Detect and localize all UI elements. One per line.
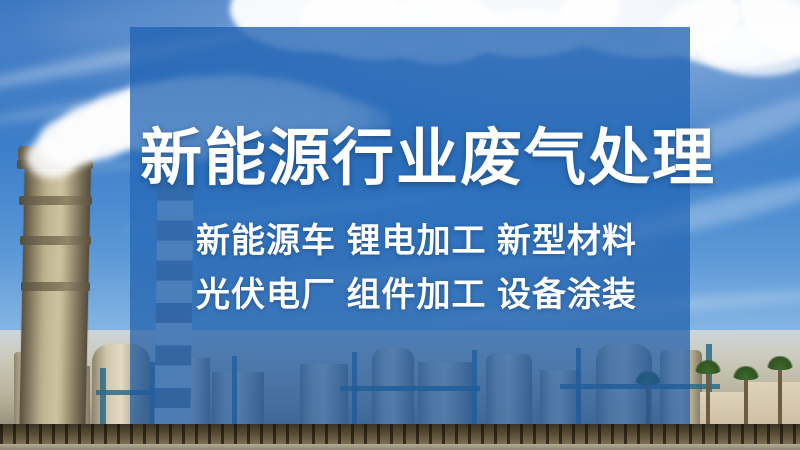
banner-image: 新能源行业废气处理 新能源车 锂电加工 新型材料 光伏电厂 组件加工 设备涂装 [0, 0, 800, 450]
banner-subtitle-line-2: 光伏电厂 组件加工 设备涂装 [196, 278, 637, 312]
banner-title: 新能源行业废气处理 [140, 128, 716, 190]
smokestack-band [20, 236, 91, 245]
road-strip [0, 444, 800, 450]
smokestack-band [21, 282, 90, 291]
smokestack-band [19, 196, 92, 205]
banner-subtitle-line-1: 新能源车 锂电加工 新型材料 [196, 224, 637, 258]
